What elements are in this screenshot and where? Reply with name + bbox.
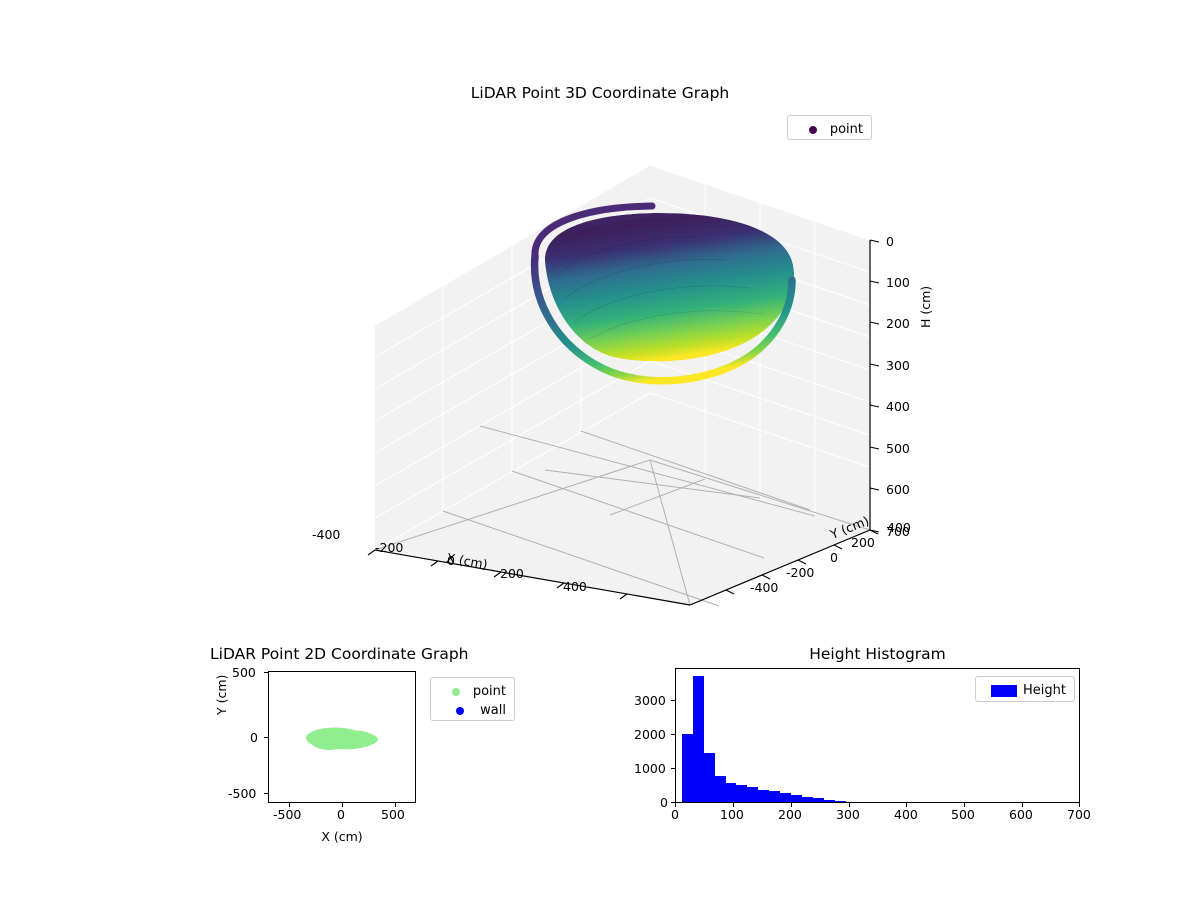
ztick-3d-5: 500 <box>886 441 910 456</box>
xtick-hist-4: 400 <box>894 807 918 822</box>
histogram-bar <box>715 776 726 802</box>
point-marker-icon <box>439 688 473 696</box>
histogram-bar <box>824 800 835 802</box>
xtick-3d-0: -400 <box>312 527 340 542</box>
yaxis-label-2d: Y (cm) <box>214 675 229 715</box>
legend-item-point-2d: point <box>439 682 506 701</box>
ytick-mark-1 <box>264 737 268 738</box>
height-patch-icon <box>984 685 1023 697</box>
histogram-bar <box>791 795 802 802</box>
xtick-hist-5: 500 <box>951 807 975 822</box>
legend-label-point-2d: point <box>473 684 506 699</box>
ytick-hist-0: 0 <box>660 795 668 810</box>
xtick-2d-2: 500 <box>381 807 405 822</box>
ztick-3d-6: 600 <box>886 482 910 497</box>
histogram-bar <box>802 797 813 802</box>
ytick-hist-3: 3000 <box>634 693 666 708</box>
ytick-2d-2: -500 <box>228 786 256 801</box>
figure-canvas: LiDAR Point 3D Coordinate Graph point <box>0 0 1200 900</box>
histogram-bar <box>758 790 769 802</box>
histogram-bar <box>736 785 747 802</box>
xtick-hist-2: 200 <box>778 807 802 822</box>
xtick-2d-0: -500 <box>273 807 301 822</box>
xtick-2d-1: 0 <box>337 807 345 822</box>
wall-marker-icon <box>439 707 480 715</box>
histogram-bar <box>704 753 715 802</box>
legend-item-wall-2d: wall <box>439 701 506 720</box>
scatter-points-2d <box>306 728 378 751</box>
legend-label-wall-2d: wall <box>480 703 506 718</box>
xtick-hist-1: 100 <box>720 807 744 822</box>
xtick-3d-3: 200 <box>500 566 524 581</box>
histogram-bar <box>693 676 704 802</box>
ztick-3d-4: 400 <box>886 399 910 414</box>
xtick-hist-3: 300 <box>836 807 860 822</box>
legend-2d[interactable]: point wall <box>430 677 515 721</box>
ytick-hist-2: 2000 <box>634 727 666 742</box>
xtick-mark-hist-1 <box>733 803 734 807</box>
legend-item-height: Height <box>984 681 1066 700</box>
ytick-mark-hist-3 <box>671 700 675 701</box>
ytick-2d-1: 0 <box>250 730 258 745</box>
xtick-3d-1: -200 <box>375 540 403 555</box>
xtick-mark-hist-7 <box>1079 803 1080 807</box>
ytick-3d-3: 200 <box>851 535 875 550</box>
xtick-hist-6: 600 <box>1009 807 1033 822</box>
legend-histogram[interactable]: Height <box>975 676 1075 702</box>
zaxis-label-3d: H (cm) <box>918 286 933 328</box>
ztick-3d-2: 200 <box>886 316 910 331</box>
ytick-mark-hist-1 <box>671 768 675 769</box>
xtick-mark-hist-5 <box>964 803 965 807</box>
ztick-3d-1: 100 <box>886 275 910 290</box>
xtick-mark-hist-0 <box>675 803 676 807</box>
chart-hist-title: Height Histogram <box>675 645 1080 663</box>
ztick-3d-0: 0 <box>886 234 894 249</box>
xtick-mark-hist-2 <box>791 803 792 807</box>
chart-2d-title: LiDAR Point 2D Coordinate Graph <box>210 645 468 663</box>
ytick-hist-1: 1000 <box>634 761 666 776</box>
histogram-bar <box>769 791 780 802</box>
legend-label-height: Height <box>1023 683 1066 698</box>
xtick-hist-0: 0 <box>671 807 679 822</box>
histogram-bar <box>835 801 846 802</box>
histogram-bar <box>813 798 824 802</box>
chart-3d-scatter[interactable]: -400 -200 0 200 400 X (cm) -400 -200 0 2… <box>330 130 950 630</box>
chart-2d-scatter[interactable] <box>268 671 416 803</box>
xtick-3d-4: 400 <box>563 579 587 594</box>
ytick-mark-hist-2 <box>671 734 675 735</box>
histogram-bar <box>726 783 737 802</box>
xtick-mark-hist-6 <box>1022 803 1023 807</box>
histogram-bar <box>780 793 791 802</box>
xtick-mark-1 <box>342 803 343 807</box>
ytick-2d-0: 500 <box>232 665 256 680</box>
ytick-mark-2 <box>264 793 268 794</box>
ztick-3d-3: 300 <box>886 358 910 373</box>
ytick-3d-0: -400 <box>750 580 778 595</box>
ztick-3d-7: 700 <box>886 524 910 539</box>
xtick-mark-0 <box>289 803 290 807</box>
xtick-mark-2 <box>395 803 396 807</box>
xtick-hist-7: 700 <box>1067 807 1091 822</box>
histogram-bar <box>747 787 758 802</box>
ytick-3d-1: -200 <box>786 565 814 580</box>
histogram-bar <box>682 734 693 802</box>
xtick-mark-hist-3 <box>849 803 850 807</box>
page-title: LiDAR Point 3D Coordinate Graph <box>0 84 1200 102</box>
ytick-mark-0 <box>264 672 268 673</box>
xtick-mark-hist-4 <box>906 803 907 807</box>
xaxis-label-2d: X (cm) <box>268 829 416 844</box>
ytick-3d-2: 0 <box>830 550 838 565</box>
